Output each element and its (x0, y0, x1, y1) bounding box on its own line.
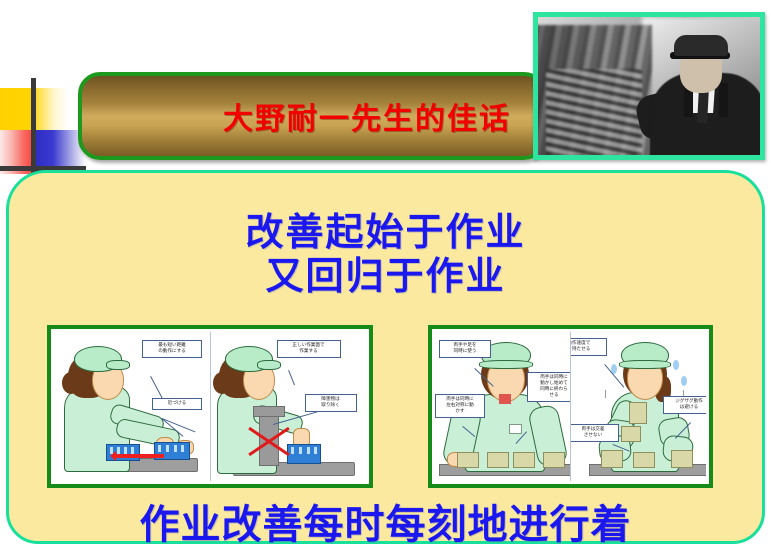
callout-leader-1 (288, 370, 295, 385)
motion-line-1 (605, 390, 606, 398)
illustration-rhythm-no-zigzag: 適切な動作速度で リズムを持たせる ジグザグ動作 は避ける 両手は交差 させない (570, 332, 706, 481)
headline-line-1: 改善起始于作业 (0, 210, 771, 254)
portrait-photo (538, 17, 760, 155)
workpiece-right (543, 452, 565, 468)
workpiece-low-center (633, 452, 655, 468)
headline-line-2: 又回归于作业 (0, 254, 771, 298)
workpiece-center-right (513, 452, 535, 468)
deco-vertical-bar (31, 78, 36, 174)
callout-shortest-distance: 最も短い距離 の動作にする (142, 340, 202, 358)
workpiece-center-left (487, 452, 509, 468)
motion-arrow (116, 454, 164, 458)
main-headline: 改善起始于作业 又回归于作业 (0, 210, 771, 298)
workpiece-mid (621, 426, 641, 442)
workpiece-low-left (601, 450, 623, 468)
callout-proper-speed-rhythm: 適切な動作速度で リズムを持たせる (570, 338, 607, 356)
callout-start-end-together: 両手は同時に 動かし始めて 同時に終わら せる (527, 372, 570, 402)
sweat-drop-right (673, 360, 679, 370)
prohibition-cross-icon (245, 416, 293, 464)
worker-hair-bun (213, 372, 231, 394)
decorative-cross-motif (0, 78, 86, 174)
callout-use-both-hands-feet: 両手や足を 同時に使う (439, 340, 491, 358)
illustration-correct-work-surface: 正しい作業面で 作業する 障害物は 取り除く (210, 332, 367, 481)
worker-cap-brim (479, 360, 533, 369)
worker-name-badge (509, 424, 522, 434)
callout-correct-work-surface: 正しい作業面で 作業する (277, 340, 341, 358)
title-banner: 大野耐一先生的佳话 (78, 72, 546, 160)
sweat-drop-right-2 (681, 376, 687, 386)
callout-no-crossing-hands: 両手は交差 させない (570, 424, 619, 442)
photo-machinery-detail (546, 69, 642, 155)
illustration-group-left: 最も短い距離 の動作にする 近づける 正しい作業面で 作業する 障害物は 取り除… (47, 325, 373, 488)
illustration-shortest-distance: 最も短い距離 の動作にする 近づける (54, 332, 210, 481)
slide-canvas: 大野耐一先生的佳话 改善起始于作业 又回归于作业 (0, 0, 771, 544)
portrait-photo-frame (533, 12, 765, 160)
worker-collar (499, 394, 511, 404)
callout-avoid-zigzag: ジグザグ動作 は避ける (663, 396, 706, 414)
worker-cap-brim (106, 360, 130, 370)
illustration-group-right: 両手や足を 同時に使う 両手は同時に 左右対称に動 かす 両手は同時に 動かし始… (428, 325, 713, 488)
banner-title: 大野耐一先生的佳话 (82, 94, 542, 138)
footer-headline: 作业改善每时每刻地进行着 (0, 492, 771, 550)
worker-cap-brim (257, 360, 281, 370)
callout-bring-closer: 近づける (152, 398, 202, 410)
workpiece-low-right (671, 450, 693, 468)
photo-figure-cap (674, 35, 728, 56)
callout-symmetric-motion: 両手は同時に 左右対称に動 かす (435, 394, 485, 418)
callout-remove-obstacles: 障害物は 取り除く (305, 394, 357, 412)
workpiece-held-high (629, 402, 647, 424)
worker-cap-brim (619, 360, 671, 369)
illustration-simultaneous-motion: 両手や足を 同時に使う 両手は同時に 左右対称に動 かす 両手は同時に 動かし始… (435, 332, 570, 481)
worker-hair-bun (62, 372, 80, 394)
workpiece-left (457, 452, 479, 468)
